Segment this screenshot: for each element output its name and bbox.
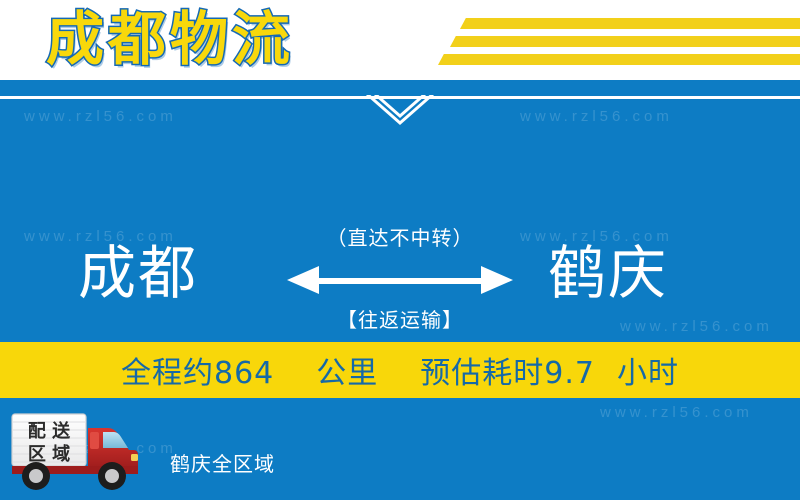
trip-info-band: 全程约864 公里 预估耗时9.7 小时 <box>0 342 800 398</box>
banner-header: 成都物流 <box>0 0 800 80</box>
duration-value: 预估耗时9.7 <box>420 348 595 392</box>
delivery-area-text: 鹤庆全区域 <box>170 448 275 477</box>
stripe-3 <box>438 54 800 65</box>
route-note-top: （直达不中转） <box>280 222 520 251</box>
logistics-banner: 成都物流 www.rzl56.com www.rzl56.com www.rzl… <box>0 0 800 500</box>
truck-box-line1: 配 送 <box>28 420 71 442</box>
delivery-truck-icon: 配 送 区 域 <box>8 410 152 494</box>
watermark: www.rzl56.com <box>600 404 753 421</box>
truck-box-line2: 区 域 <box>28 443 70 465</box>
banner-body: www.rzl56.com www.rzl56.com www.rzl56.co… <box>0 80 800 500</box>
watermark: www.rzl56.com <box>520 108 673 125</box>
watermark: www.rzl56.com <box>24 108 177 125</box>
page-title: 成都物流 <box>46 2 294 76</box>
distance-unit: 公里 <box>316 348 378 392</box>
stripe-2 <box>450 36 800 47</box>
destination-city: 鹤庆 <box>548 242 668 304</box>
duration-unit: 小时 <box>617 348 679 392</box>
watermark: www.rzl56.com <box>620 318 773 335</box>
route-note-bottom: 【往返运输】 <box>280 304 520 333</box>
stripe-1 <box>460 18 800 29</box>
origin-city: 成都 <box>78 242 198 304</box>
distance-value: 全程约864 <box>121 348 274 392</box>
double-arrow-icon <box>285 258 515 300</box>
chevron-down-icon <box>365 90 435 126</box>
decorative-stripes <box>400 0 800 80</box>
